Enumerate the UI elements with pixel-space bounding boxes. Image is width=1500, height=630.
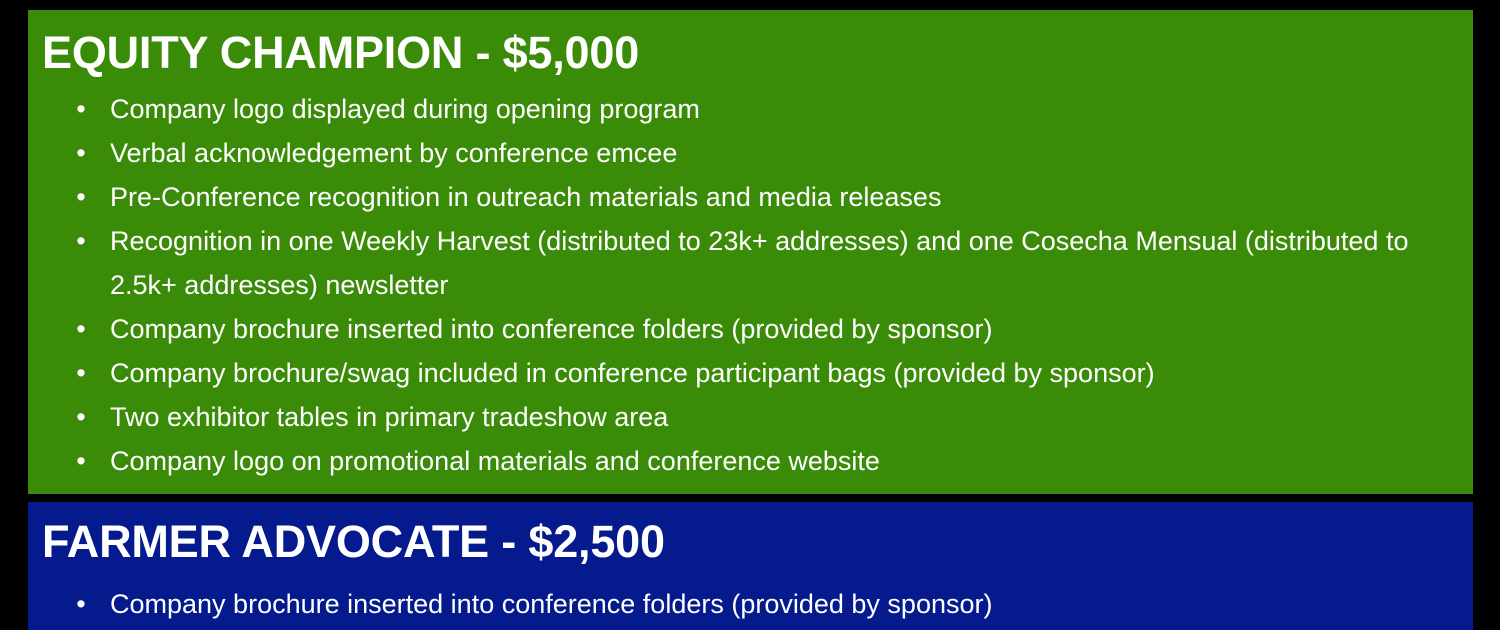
bullet-icon: •: [74, 351, 88, 395]
bullet-icon: •: [74, 175, 88, 219]
tier-panel-equity-champion: EQUITY CHAMPION - $5,000 • Company logo …: [28, 10, 1473, 494]
list-item: • Company logo on promotional materials …: [28, 439, 1473, 483]
benefit-text: Company logo on promotional materials an…: [110, 439, 1433, 483]
bullet-icon: •: [74, 395, 88, 439]
list-item: • Verbal acknowledgement by conference e…: [28, 131, 1473, 175]
bullet-icon: •: [74, 307, 88, 351]
bullet-icon: •: [74, 131, 88, 175]
bullet-icon: •: [74, 87, 88, 131]
bullet-icon: •: [74, 439, 88, 483]
bullet-icon: •: [74, 219, 88, 263]
benefit-text: Recognition in one Weekly Harvest (distr…: [110, 219, 1433, 307]
benefit-list-farmer-advocate: • Company brochure inserted into confere…: [28, 568, 1473, 626]
benefit-list-equity-champion: • Company logo displayed during opening …: [28, 79, 1473, 483]
list-item: • Two exhibitor tables in primary trades…: [28, 395, 1473, 439]
benefit-text: Verbal acknowledgement by conference emc…: [110, 131, 1433, 175]
bullet-icon: •: [74, 582, 88, 626]
benefit-text: Two exhibitor tables in primary tradesho…: [110, 395, 1433, 439]
tier-panel-farmer-advocate: FARMER ADVOCATE - $2,500 • Company broch…: [28, 502, 1473, 630]
benefit-text: Company brochure inserted into conferenc…: [110, 582, 1433, 626]
list-item: • Company brochure/swag included in conf…: [28, 351, 1473, 395]
list-item: • Company brochure inserted into confere…: [28, 582, 1473, 626]
list-item: • Company logo displayed during opening …: [28, 87, 1473, 131]
tier-title-equity-champion: EQUITY CHAMPION - $5,000: [28, 10, 1473, 79]
tier-title-farmer-advocate: FARMER ADVOCATE - $2,500: [28, 502, 1473, 568]
list-item: • Recognition in one Weekly Harvest (dis…: [28, 219, 1473, 307]
list-item: • Pre-Conference recognition in outreach…: [28, 175, 1473, 219]
list-item: • Company brochure inserted into confere…: [28, 307, 1473, 351]
benefit-text: Pre-Conference recognition in outreach m…: [110, 175, 1433, 219]
benefit-text: Company brochure inserted into conferenc…: [110, 307, 1433, 351]
sponsorship-tiers-slide: EQUITY CHAMPION - $5,000 • Company logo …: [0, 0, 1500, 630]
benefit-text: Company brochure/swag included in confer…: [110, 351, 1433, 395]
benefit-text: Company logo displayed during opening pr…: [110, 87, 1433, 131]
